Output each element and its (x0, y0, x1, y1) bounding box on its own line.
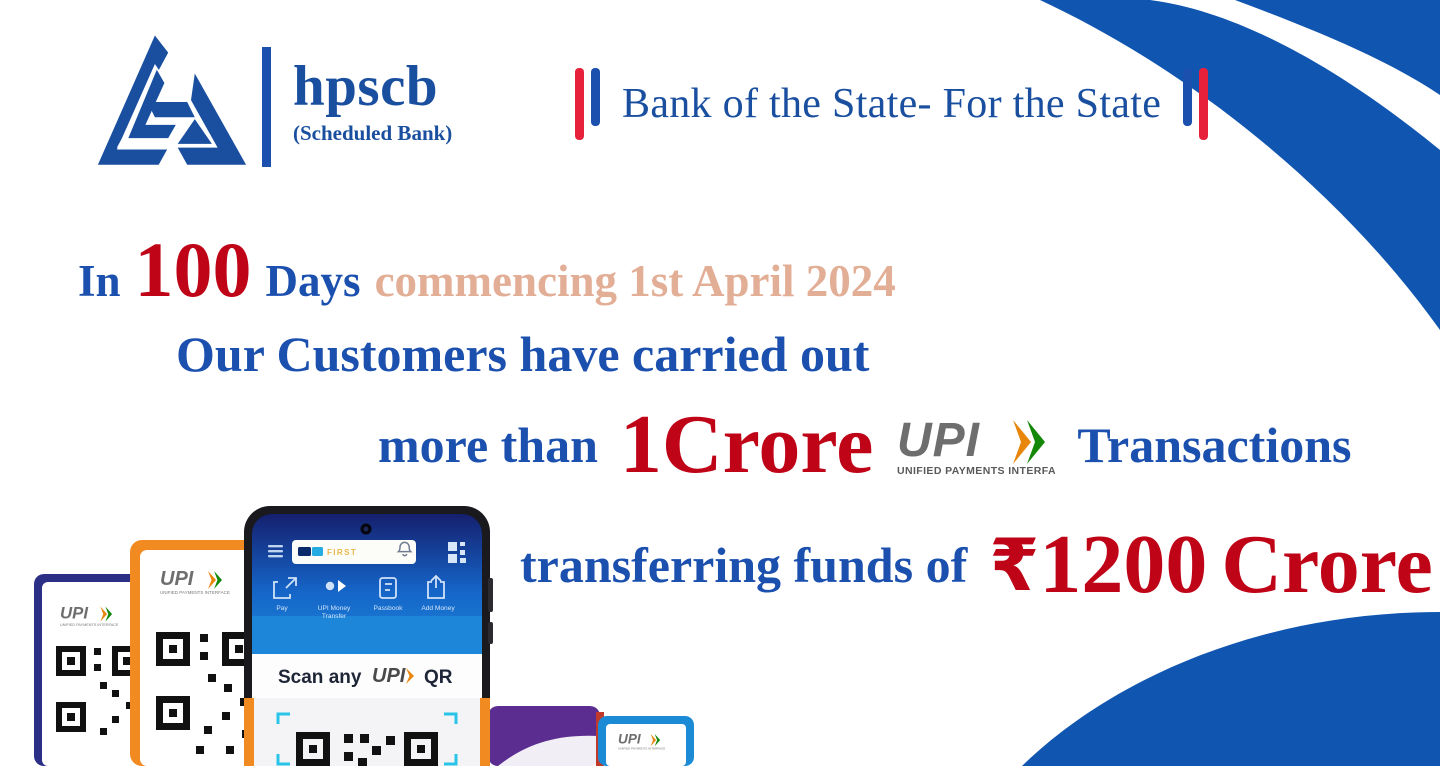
svg-text:UPI: UPI (897, 414, 981, 467)
line4-amount: 1200 (1039, 527, 1207, 603)
scan-banner-prefix: Scan any (278, 667, 362, 688)
purple-card (488, 706, 604, 766)
line1-prefix: In (78, 255, 121, 307)
action-label-upi-transfer: UPI Money (318, 605, 351, 612)
banner-header: hpscb (Scheduled Bank) Bank of the State… (0, 0, 1440, 200)
bank-wordmark: hpscb (Scheduled Bank) (293, 60, 452, 145)
blue-bar-icon (1183, 68, 1192, 126)
tagline-block: Bank of the State- For the State (575, 58, 1208, 150)
action-label-pay: Pay (276, 605, 288, 612)
svg-text:UPI: UPI (372, 665, 406, 687)
paytm-first-label: FIRST (327, 548, 357, 557)
line2-text: Our Customers have carried out (176, 325, 869, 383)
svg-text:UNIFIED PAYMENTS INTERFACE: UNIFIED PAYMENTS INTERFACE (618, 747, 665, 751)
svg-text:UPI: UPI (60, 603, 88, 622)
card-rail-right (480, 698, 490, 766)
svg-text:UNIFIED PAYMENTS INTERFACE: UNIFIED PAYMENTS INTERFACE (60, 623, 119, 627)
svg-text:UPI: UPI (160, 568, 194, 590)
line4-unit: Crore (1221, 527, 1432, 603)
hamburger-icon[interactable] (268, 545, 283, 557)
bottom-right-swoosh (1022, 612, 1440, 766)
red-bar-icon (575, 68, 584, 140)
hpscb-triangle-logo-icon (96, 28, 248, 178)
line3-amount: 1Crore (620, 407, 873, 483)
headline-line-1: In 100 Days commencing 1st April 2024 (78, 235, 896, 307)
svg-text:UPI: UPI (618, 732, 642, 747)
red-bar-icon (1199, 68, 1208, 140)
svg-text:UNIFIED PAYMENTS INTERFACE: UNIFIED PAYMENTS INTERFACE (160, 590, 230, 595)
bank-name: hpscb (293, 60, 452, 114)
blue-bar-icon (591, 68, 600, 126)
phone-side-button (488, 622, 493, 644)
phone-side-button (488, 578, 493, 612)
action-label-upi-transfer-2: Transfer (322, 613, 347, 620)
scanner-viewport (252, 698, 482, 766)
line1-unit: Days (266, 255, 361, 307)
line3-prefix: more than (378, 416, 598, 474)
paytm-logo-icon (298, 547, 323, 556)
line3-suffix: Transactions (1077, 416, 1351, 474)
scan-banner-suffix: QR (424, 667, 453, 688)
phone-mockup: FIRST (244, 506, 493, 766)
rupee-symbol: ₹ (989, 523, 1039, 607)
action-label-add-money: Add Money (421, 605, 455, 612)
bank-logo-block: hpscb (Scheduled Bank) (96, 28, 452, 178)
card-rail-left (244, 698, 254, 766)
tagline-text: Bank of the State- For the State (622, 80, 1161, 128)
upi-artwork: UPI UNIFIED PAYMENTS INTERFACE UPI UNIFI… (0, 506, 760, 766)
tagline-left-bars (575, 68, 600, 140)
headline-line-2: Our Customers have carried out (176, 325, 869, 383)
bank-subtitle: (Scheduled Bank) (293, 121, 452, 146)
line1-suffix: commencing 1st April 2024 (375, 255, 896, 307)
logo-divider (262, 47, 271, 167)
upi-qr-card-blue: UPI UNIFIED PAYMENTS INTERFACE (598, 716, 694, 766)
action-label-passbook: Passbook (374, 605, 404, 612)
line1-number: 100 (135, 235, 252, 305)
headline-line-3: more than 1Crore UPI UNIFIED PAYMENTS IN… (378, 407, 1352, 483)
upi-logo-icon: UPI UNIFIED PAYMENTS INTERFACE (895, 412, 1055, 478)
tagline-right-bars (1183, 68, 1208, 140)
svg-text:UNIFIED PAYMENTS INTERFACE: UNIFIED PAYMENTS INTERFACE (897, 465, 1055, 477)
